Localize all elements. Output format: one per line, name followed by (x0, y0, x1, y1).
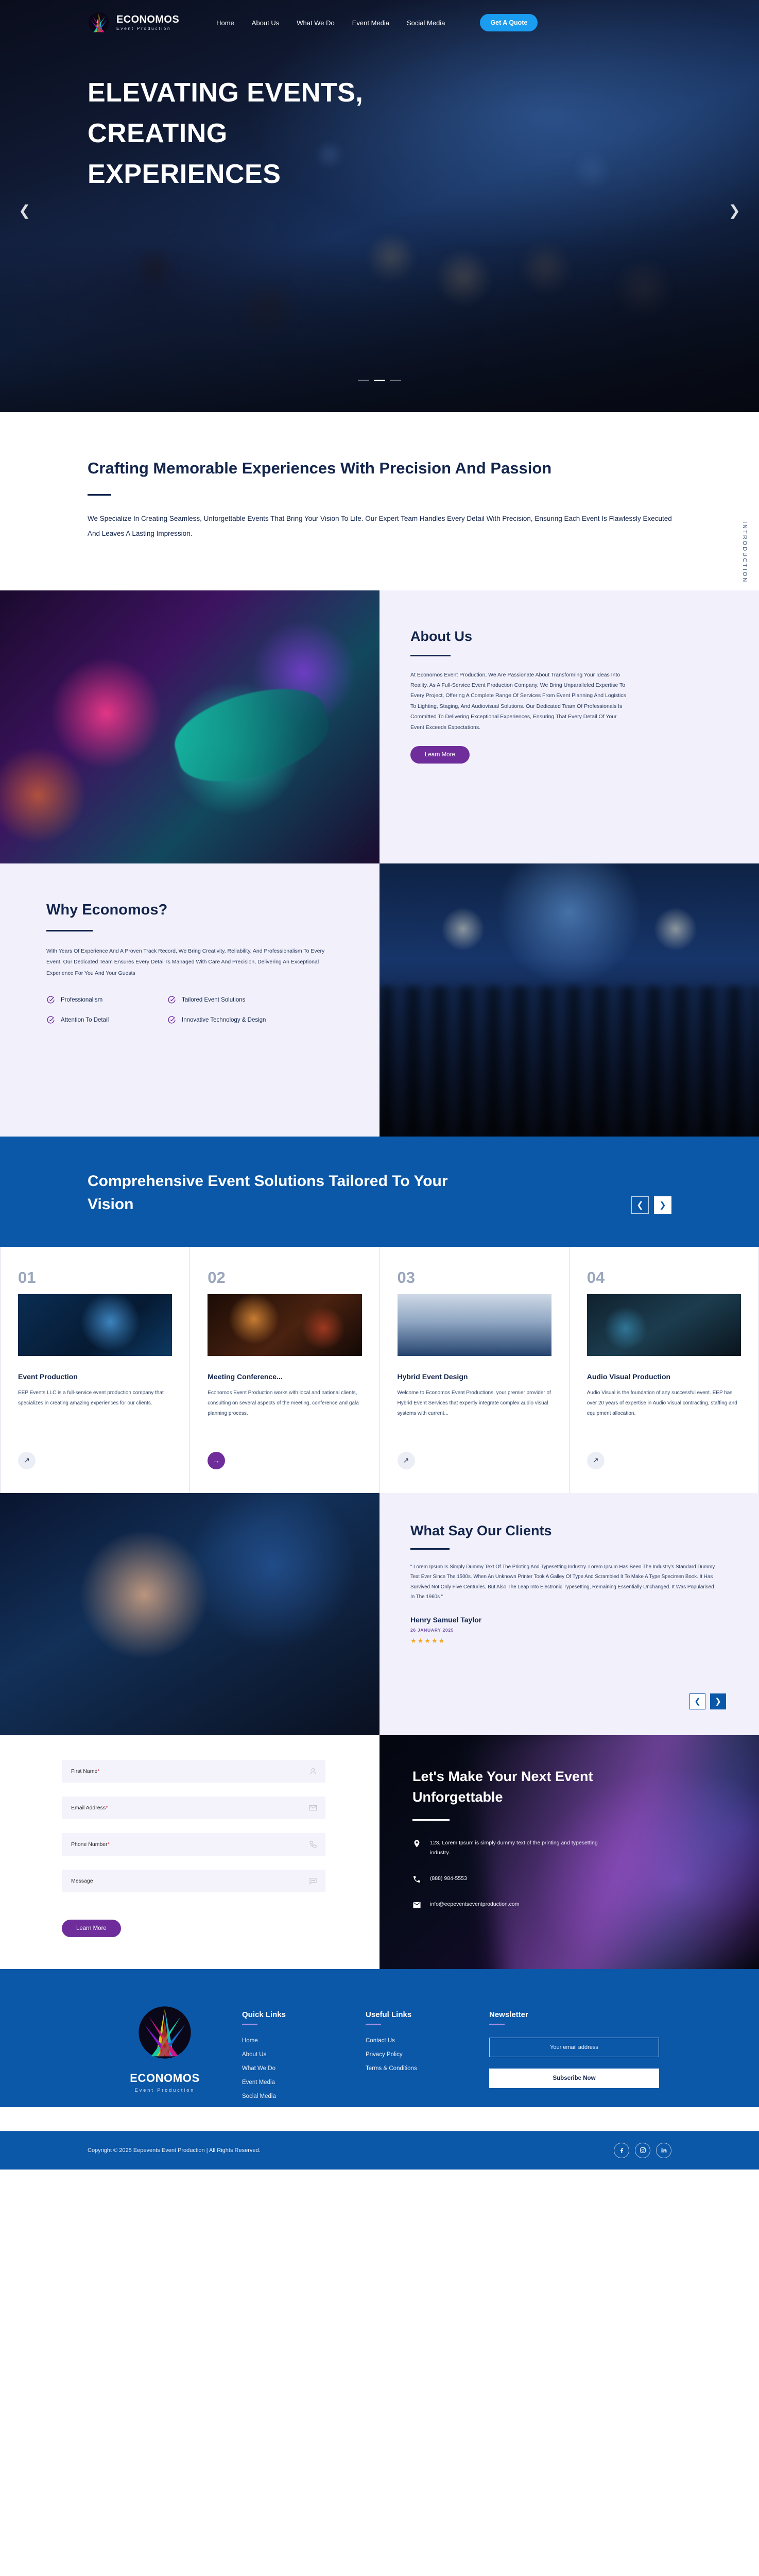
hero-slider-dots (0, 380, 759, 381)
service-image (208, 1294, 361, 1356)
useful-links-underline (366, 2024, 381, 2025)
service-number: 02 (208, 1268, 361, 1287)
arrow-up-right-icon[interactable]: ↗ (587, 1452, 605, 1469)
social-links (614, 2143, 671, 2158)
footer-brand-tagline: Event Production (88, 2088, 242, 2093)
cta-phone: (888) 984-5553 (430, 1874, 467, 1884)
banner-slider-controls: ❮ ❯ (631, 1196, 671, 1214)
quick-links-underline (242, 2024, 257, 2025)
facebook-icon[interactable] (614, 2143, 629, 2158)
service-card[interactable]: 04 Audio Visual Production Audio Visual … (570, 1247, 759, 1493)
cta-address-row: 123, Lorem Ipsum is simply dummy text of… (412, 1838, 728, 1859)
why-body: With Years Of Experience And A Proven Tr… (46, 946, 335, 979)
feature-item: Innovative Technology & Design (167, 1015, 335, 1024)
testimonial-author: Henry Samuel Taylor (410, 1616, 726, 1624)
why-section: Why Economos? With Years Of Experience A… (0, 863, 759, 1137)
cta-email: info@eepeventseventproduction.com (430, 1900, 520, 1910)
newsletter-title: Newsletter (489, 2010, 659, 2019)
service-title: Meeting Conference... (208, 1372, 361, 1381)
phone-label: Phone Number* (71, 1841, 110, 1848)
nav-link-social-media[interactable]: Social Media (407, 19, 445, 27)
service-number: 03 (398, 1268, 551, 1287)
banner-next-button[interactable]: ❯ (654, 1196, 671, 1214)
intro-heading: Crafting Memorable Experiences With Prec… (88, 456, 592, 481)
chat-icon (309, 1877, 317, 1885)
service-body: Welcome to Economos Event Productions, y… (398, 1388, 551, 1444)
nav-links: Home About Us What We Do Event Media Soc… (216, 14, 538, 31)
landing-page: ECONOMOS Event Production Home About Us … (0, 0, 759, 2170)
brand-tagline: Event Production (116, 26, 179, 31)
banner-prev-button[interactable]: ❮ (631, 1196, 649, 1214)
intro-divider (88, 494, 111, 496)
service-body: EEP Events LLC is a full-service event p… (18, 1388, 172, 1444)
about-content: About Us At Economos Event Production, W… (380, 590, 759, 863)
service-image (398, 1294, 551, 1356)
hero-next-arrow[interactable]: ❯ (729, 202, 740, 219)
testimonial-quote: “ Lorem Ipsum Is Simply Dummy Text Of Th… (410, 1562, 719, 1602)
service-number: 04 (587, 1268, 741, 1287)
service-number: 01 (18, 1268, 172, 1287)
feature-label: Attention To Detail (61, 1017, 109, 1023)
location-pin-icon (412, 1839, 421, 1848)
feature-item: Attention To Detail (46, 1015, 167, 1024)
mail-icon (309, 1804, 317, 1812)
message-field[interactable]: Message (62, 1870, 325, 1892)
footer-link-what-we-do[interactable]: What We Do (242, 2065, 366, 2072)
check-circle-icon (167, 995, 176, 1004)
phone-icon (412, 1875, 421, 1884)
user-icon (309, 1767, 317, 1775)
about-heading: About Us (410, 629, 726, 645)
service-card[interactable]: 01 Event Production EEP Events LLC is a … (0, 1247, 190, 1493)
get-a-quote-button[interactable]: Get A Quote (480, 14, 538, 31)
service-image (18, 1294, 172, 1356)
intro-body: We Specialize In Creating Seamless, Unfo… (88, 511, 680, 541)
why-divider (46, 930, 93, 931)
service-title: Event Production (18, 1372, 172, 1381)
footer-brand-name: ECONOMOS (88, 2072, 242, 2085)
why-feature-list: Professionalism Tailored Event Solutions… (46, 995, 335, 1024)
about-section: About Us At Economos Event Production, W… (0, 590, 759, 863)
message-label: Message (71, 1878, 93, 1884)
feature-label: Professionalism (61, 997, 102, 1003)
useful-links-title: Useful Links (366, 2010, 489, 2019)
hero-content: ELEVATING EVENTS, CREATING EXPERIENCES (0, 34, 759, 195)
mail-icon (412, 1901, 421, 1909)
footer-useful-links: Useful Links Contact Us Privacy Policy T… (366, 1999, 489, 2107)
testimonial-slider-controls: ❮ ❯ (689, 1693, 726, 1709)
testimonial-divider (410, 1548, 450, 1550)
economos-logo-icon (88, 11, 110, 34)
intro-side-label: INTRODUCTION (741, 521, 748, 583)
email-label: Email Address* (71, 1805, 108, 1811)
quick-links-title: Quick Links (242, 2010, 366, 2019)
economos-logo-icon (136, 2004, 193, 2061)
service-card[interactable]: 03 Hybrid Event Design Welcome to Econom… (380, 1247, 570, 1493)
nav-link-event-media[interactable]: Event Media (352, 19, 389, 27)
subscribe-now-button[interactable]: Subscribe Now (489, 2069, 659, 2088)
footer-newsletter: Newsletter Your email address Subscribe … (489, 1999, 659, 2107)
contact-form: First Name* Email Address* Phone Number*… (0, 1735, 380, 1969)
feature-item: Tailored Event Solutions (167, 995, 335, 1004)
cta-phone-row[interactable]: (888) 984-5553 (412, 1874, 728, 1884)
brand-name: ECONOMOS (116, 14, 179, 25)
newsletter-email-input[interactable]: Your email address (489, 2038, 659, 2057)
testimonial-date: 26 JANUARY 2025 (410, 1628, 726, 1633)
arrow-up-right-icon[interactable]: ↗ (398, 1452, 415, 1469)
service-body: Economos Event Production works with loc… (208, 1388, 361, 1444)
why-content: Why Economos? With Years Of Experience A… (0, 863, 380, 1137)
rating-stars: ★★★★★ (410, 1637, 726, 1645)
linkedin-icon[interactable] (656, 2143, 671, 2158)
hero-section: ECONOMOS Event Production Home About Us … (0, 0, 759, 412)
footer-link-about-us[interactable]: About Us (242, 2052, 366, 2058)
testimonial-heading: What Say Our Clients (410, 1523, 726, 1539)
arrow-right-icon[interactable]: → (208, 1452, 225, 1469)
testimonial-image (0, 1493, 380, 1735)
main-navigation: ECONOMOS Event Production Home About Us … (0, 0, 759, 34)
service-body: Audio Visual is the foundation of any su… (587, 1388, 741, 1444)
footer-brand: ECONOMOS Event Production (88, 1999, 242, 2107)
service-card[interactable]: 02 Meeting Conference... Economos Event … (190, 1247, 380, 1493)
footer-link-home[interactable]: Home (242, 2038, 366, 2044)
brand-logo[interactable]: ECONOMOS Event Production (88, 11, 179, 34)
footer-quick-links: Quick Links Home About Us What We Do Eve… (242, 1999, 366, 2107)
phone-number-field[interactable]: Phone Number* (62, 1833, 325, 1856)
phone-icon (309, 1840, 317, 1849)
hero-dot-1[interactable] (358, 380, 369, 381)
cta-divider (412, 1819, 450, 1821)
testimonial-content: What Say Our Clients “ Lorem Ipsum Is Si… (380, 1493, 759, 1735)
footer-link-contact-us[interactable]: Contact Us (366, 2038, 489, 2044)
arrow-up-right-icon[interactable]: ↗ (18, 1452, 36, 1469)
copyright-bar: Copyright © 2025 Eepevents Event Product… (0, 2131, 759, 2170)
about-body: At Economos Event Production, We Are Pas… (410, 670, 627, 733)
about-image (0, 590, 380, 863)
testimonials-section: What Say Our Clients “ Lorem Ipsum Is Si… (0, 1493, 759, 1735)
check-circle-icon (46, 995, 55, 1004)
email-address-field[interactable]: Email Address* (62, 1797, 325, 1819)
cta-heading: Let's Make Your Next Event Unforgettable (412, 1766, 639, 1808)
cta-panel: Let's Make Your Next Event Unforgettable… (380, 1735, 759, 1969)
about-learn-more-button[interactable]: Learn More (410, 746, 470, 764)
service-image (587, 1294, 741, 1356)
about-divider (410, 655, 451, 656)
footer: ECONOMOS Event Production Quick Links Ho… (0, 1969, 759, 2107)
hero-dot-3[interactable] (390, 380, 401, 381)
testimonial-prev-button[interactable]: ❮ (689, 1693, 705, 1709)
instagram-icon[interactable] (635, 2143, 650, 2158)
contact-section: First Name* Email Address* Phone Number*… (0, 1735, 759, 1969)
footer-link-privacy-policy[interactable]: Privacy Policy (366, 2052, 489, 2058)
hero-title: ELEVATING EVENTS, CREATING EXPERIENCES (88, 73, 376, 195)
feature-label: Tailored Event Solutions (182, 997, 245, 1003)
brand-text: ECONOMOS Event Production (116, 14, 179, 31)
newsletter-underline (489, 2024, 505, 2025)
introduction-section: Crafting Memorable Experiences With Prec… (0, 412, 759, 590)
services-section: 01 Event Production EEP Events LLC is a … (0, 1247, 759, 1493)
first-name-label: First Name* (71, 1768, 99, 1774)
why-image (380, 863, 759, 1137)
feature-item: Professionalism (46, 995, 167, 1004)
cta-address: 123, Lorem Ipsum is simply dummy text of… (430, 1838, 600, 1859)
service-title: Audio Visual Production (587, 1372, 741, 1381)
nav-link-about-us[interactable]: About Us (252, 19, 279, 27)
banner-heading: Comprehensive Event Solutions Tailored T… (88, 1170, 448, 1216)
why-heading: Why Economos? (46, 902, 349, 919)
check-circle-icon (167, 1015, 176, 1024)
footer-link-terms[interactable]: Terms & Conditions (366, 2065, 489, 2072)
check-circle-icon (46, 1015, 55, 1024)
feature-label: Innovative Technology & Design (182, 1017, 266, 1023)
contact-submit-button[interactable]: Learn More (62, 1920, 121, 1937)
nav-link-home[interactable]: Home (216, 19, 234, 27)
first-name-field[interactable]: First Name* (62, 1760, 325, 1783)
testimonial-next-button[interactable]: ❯ (710, 1693, 726, 1709)
cta-email-row[interactable]: info@eepeventseventproduction.com (412, 1900, 728, 1910)
copyright-text: Copyright © 2025 Eepevents Event Product… (88, 2147, 261, 2154)
hero-prev-arrow[interactable]: ❮ (19, 202, 30, 219)
service-title: Hybrid Event Design (398, 1372, 551, 1381)
footer-link-social-media[interactable]: Social Media (242, 2093, 366, 2099)
nav-link-what-we-do[interactable]: What We Do (297, 19, 334, 27)
hero-dot-2[interactable] (374, 380, 385, 381)
hero-gradient-overlay (0, 242, 759, 412)
footer-link-event-media[interactable]: Event Media (242, 2079, 366, 2086)
solutions-banner: Comprehensive Event Solutions Tailored T… (0, 1137, 759, 1247)
